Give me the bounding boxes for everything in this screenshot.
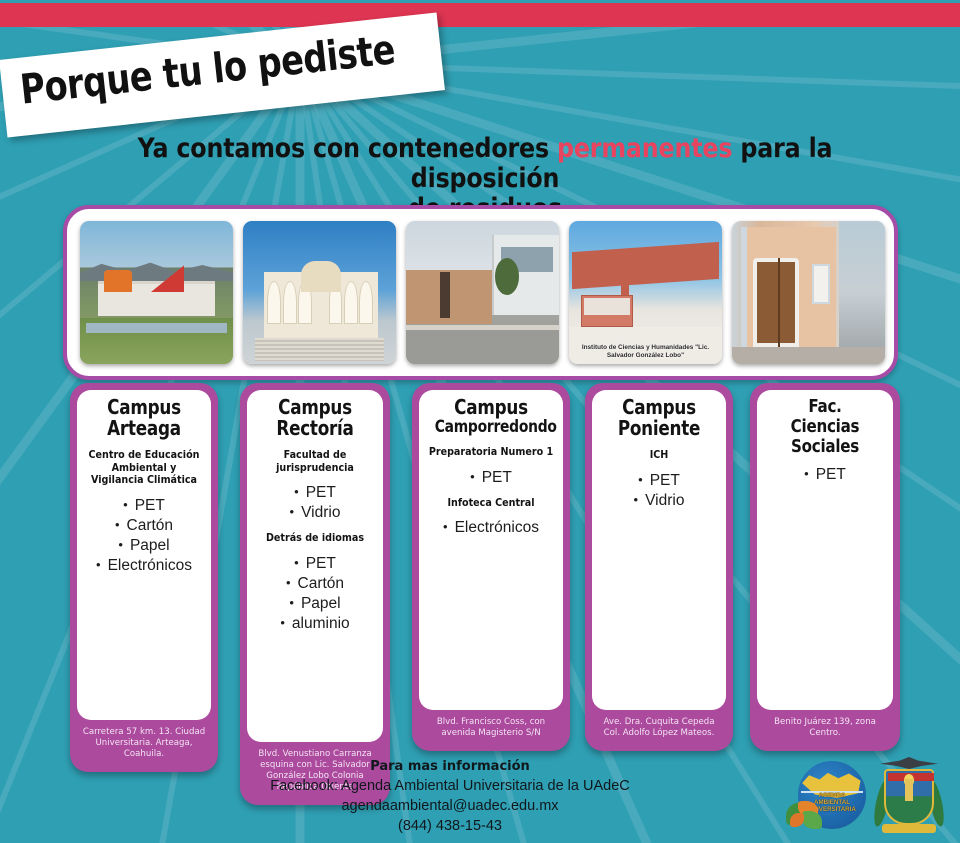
photo-container: Instituto de Ciencias y Humanidades "Lic… [63, 205, 898, 380]
top-red-bar [0, 3, 960, 27]
campus-card-address: Ave. Dra. Cuquita Cepeda Col. Adolfo Lóp… [592, 710, 726, 741]
campus-card-title: Fac. CienciasSociales [772, 397, 878, 457]
subheadline-part1: Ya contamos con contenedores [138, 133, 557, 164]
campus-card-camporredondo[interactable]: CampusCamporredondoPreparatoria Numero 1… [412, 383, 570, 751]
campus-card-panel: CampusRectoríaFacultad de jurisprudencia… [247, 390, 383, 742]
campus-card-material-list: PETCartónPapelaluminio [252, 553, 378, 633]
butterfly-icon [786, 801, 828, 829]
shield-icon [884, 769, 934, 825]
campus-card-material-list: Electrónicos [424, 517, 558, 537]
footer-phone: (844) 438-15-43 [120, 816, 780, 836]
campus-card-title-line: Fac. Ciencias [772, 397, 878, 437]
campus-card-title-line: Sociales [772, 437, 878, 457]
subheadline-highlight: permanentes [557, 133, 732, 164]
footer-contact: Para mas información Facebook: Agenda Am… [120, 758, 780, 836]
logo-group: AGENDA AMBIENTAL UNIVERSITARIA [786, 753, 946, 839]
material-item: Cartón [252, 573, 378, 593]
campus-card-title: CampusArteaga [92, 397, 196, 439]
campus-camporredondo-photo [406, 221, 559, 364]
footer-facebook: Facebook: Agenda Ambiental Universitaria… [120, 776, 780, 796]
campus-card-section-heading: Infoteca Central [428, 498, 554, 511]
campus-card-title-line: Poniente [607, 418, 711, 439]
material-item: Electrónicos [82, 555, 206, 575]
footer-email: agendaambiental@uadec.edu.mx [120, 796, 780, 816]
material-item: aluminio [252, 613, 378, 633]
campus-arteaga-photo [80, 221, 233, 364]
campus-card-address: Benito Juárez 139, zona Centro. [757, 710, 893, 741]
material-item: Vidrio [597, 490, 721, 510]
campus-card-title-line: Campus [435, 397, 548, 418]
material-item: PET [762, 464, 888, 484]
campus-card-section-heading: Detrás de idiomas [256, 533, 374, 546]
campus-rectoria-photo [243, 221, 396, 364]
campus-card-address: Carretera 57 km. 13. Ciudad Universitari… [77, 720, 211, 762]
footer-heading: Para mas información [120, 758, 780, 776]
campus-card-address: Blvd. Francisco Coss, con avenida Magist… [419, 710, 563, 741]
material-item: Papel [82, 535, 206, 555]
campus-card-panel: CampusPonienteICHPETVidrio [592, 390, 726, 710]
material-item: Cartón [82, 515, 206, 535]
campus-card-title: CampusPoniente [607, 397, 711, 439]
campus-card-panel: Fac. CienciasSocialesPET [757, 390, 893, 710]
campus-card-section-heading: Facultad de jurisprudencia [256, 450, 374, 475]
material-item: Vidrio [252, 502, 378, 522]
campus-card-title-line: Campus [92, 397, 196, 418]
material-item: Electrónicos [424, 517, 558, 537]
photo-caption: Instituto de Ciencias y Humanidades "Lic… [569, 344, 722, 360]
photo-strip: Instituto de Ciencias y Humanidades "Lic… [80, 221, 885, 364]
campus-card-title-line: Camporredondo [435, 418, 548, 436]
uadec-crest-logo [874, 757, 944, 835]
campus-poniente-photo: Instituto de Ciencias y Humanidades "Lic… [569, 221, 722, 364]
campus-card-material-list: PET [762, 464, 888, 484]
material-item: PET [252, 553, 378, 573]
campus-card-poniente[interactable]: CampusPonienteICHPETVidrioAve. Dra. Cuqu… [585, 383, 733, 751]
material-item: PET [424, 467, 558, 487]
campus-card-ciencias-sociales[interactable]: Fac. CienciasSocialesPETBenito Juárez 13… [750, 383, 900, 751]
fac-ciencias-sociales-photo [732, 221, 885, 364]
campus-card-material-list: PETVidrio [597, 470, 721, 510]
material-item: PET [597, 470, 721, 490]
campus-card-title-line: Rectoría [262, 418, 368, 439]
poster-root: Porque tu lo pediste Ya contamos con con… [0, 0, 960, 843]
top-edge-strip [0, 0, 960, 3]
campus-card-title: CampusRectoría [262, 397, 368, 439]
campus-card-title-line: Campus [262, 397, 368, 418]
material-item: PET [82, 495, 206, 515]
campus-card-material-list: PETVidrio [252, 482, 378, 522]
campus-card-arteaga[interactable]: CampusArteagaCentro de Educación Ambient… [70, 383, 218, 772]
campus-card-material-list: PETCartónPapelElectrónicos [82, 495, 206, 575]
campus-card-panel: CampusArteagaCentro de Educación Ambient… [77, 390, 211, 720]
campus-card-material-list: PET [424, 467, 558, 487]
campus-card-title-line: Arteaga [92, 418, 196, 439]
campus-card-section-heading: Preparatoria Numero 1 [428, 447, 554, 460]
material-item: Papel [252, 593, 378, 613]
campus-card-title: CampusCamporredondo [435, 397, 548, 436]
material-item: PET [252, 482, 378, 502]
campus-card-rectoria[interactable]: CampusRectoríaFacultad de jurisprudencia… [240, 383, 390, 805]
campus-card-title-line: Campus [607, 397, 711, 418]
campus-card-section-heading: ICH [601, 450, 718, 463]
campus-card-section-heading: Centro de Educación Ambiental y Vigilanc… [86, 450, 203, 488]
campus-card-panel: CampusCamporredondoPreparatoria Numero 1… [419, 390, 563, 710]
